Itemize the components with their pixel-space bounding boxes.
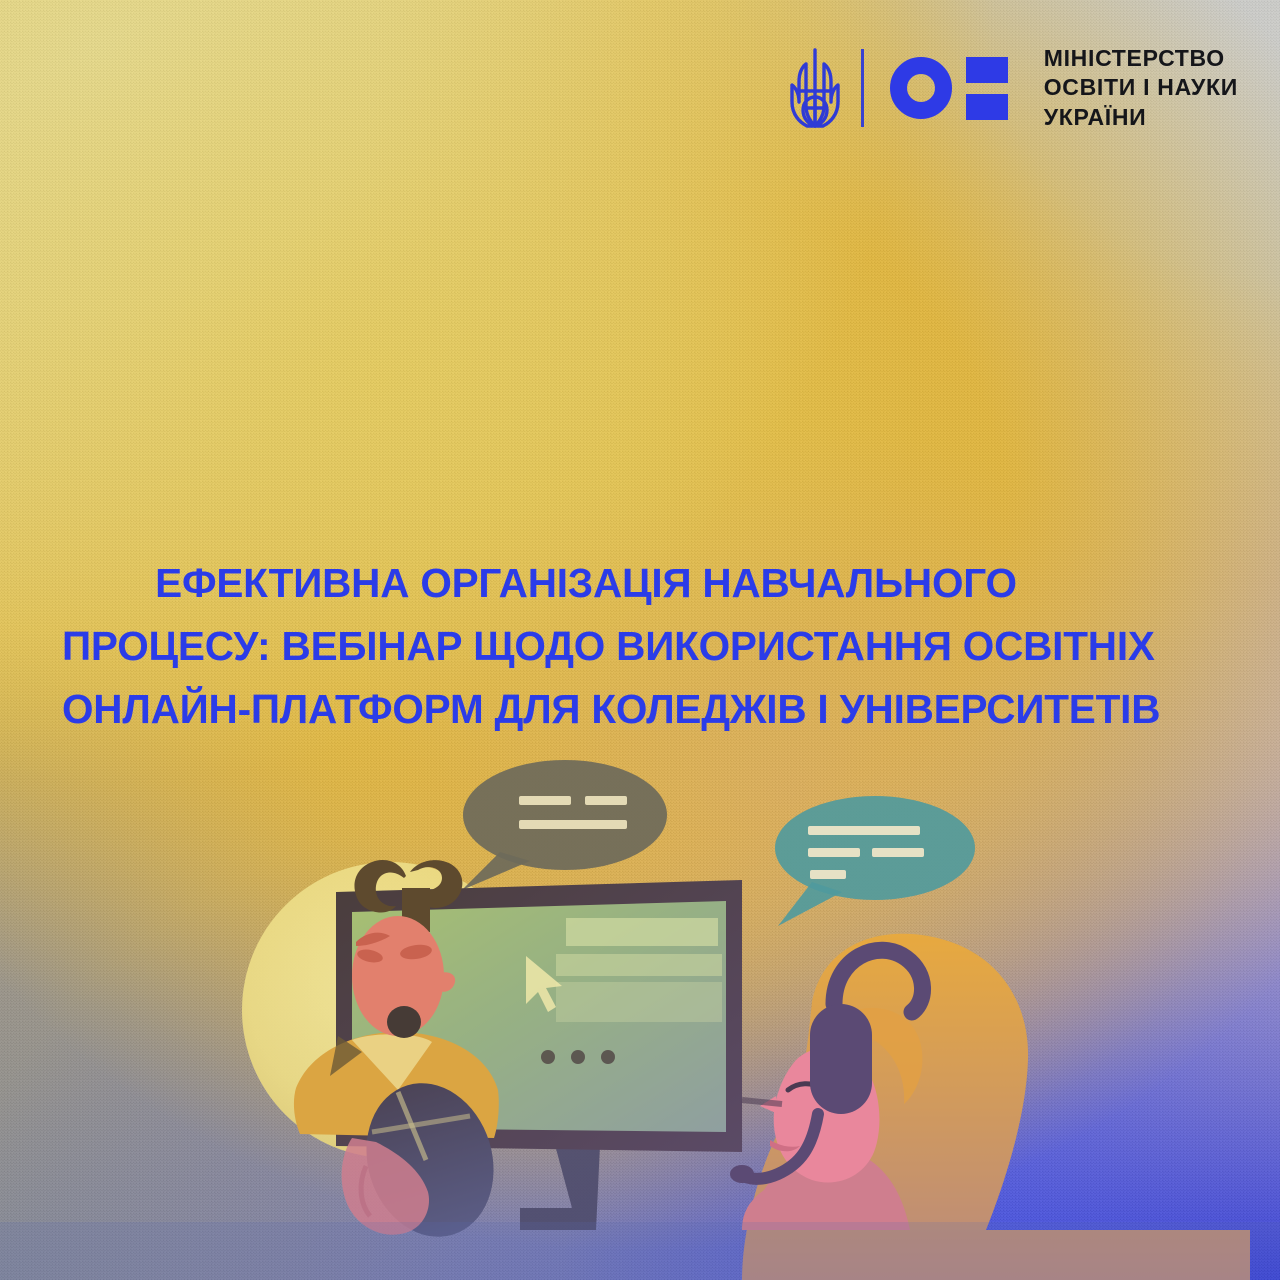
webinar-illustration bbox=[0, 760, 1280, 1280]
desk-surface bbox=[0, 1222, 1280, 1280]
screen-ui-panels bbox=[556, 918, 722, 1022]
poster-canvas: МІНІСТЕРСТВООСВІТИ І НАУКИУКРАЇНИ ЕФЕКТИ… bbox=[0, 0, 1280, 1280]
page-title: ЕФЕКТИВНА ОРГАНІЗАЦІЯ НАВЧАЛЬНОГО ПРОЦЕС… bbox=[62, 552, 1240, 742]
trident-emblem-icon bbox=[789, 44, 841, 132]
mon-bars-icon bbox=[966, 57, 1008, 120]
mon-ring-icon bbox=[890, 57, 952, 119]
ministry-name: МІНІСТЕРСТВООСВІТИ І НАУКИУКРАЇНИ bbox=[1044, 44, 1238, 132]
title-line-1: ЕФЕКТИВНА ОРГАНІЗАЦІЯ НАВЧАЛЬНОГО bbox=[62, 552, 1240, 615]
title-line-2: ПРОЦЕСУ: ВЕБІНАР ЩОДО ВИКОРИСТАННЯ ОСВІТ… bbox=[62, 615, 1240, 678]
title-line-3: ОНЛАЙН-ПЛАТФОРМ ДЛЯ КОЛЕДЖІВ І УНІВЕРСИТ… bbox=[62, 678, 1240, 741]
chat-bubble-gray bbox=[462, 760, 667, 890]
screen-loading-dots bbox=[541, 1050, 615, 1064]
mon-logo-mark bbox=[890, 57, 1008, 120]
ministry-logo-bar: МІНІСТЕРСТВООСВІТИ І НАУКИУКРАЇНИ bbox=[789, 44, 1238, 132]
chat-bubble-teal bbox=[775, 796, 975, 926]
logo-divider bbox=[861, 49, 864, 127]
